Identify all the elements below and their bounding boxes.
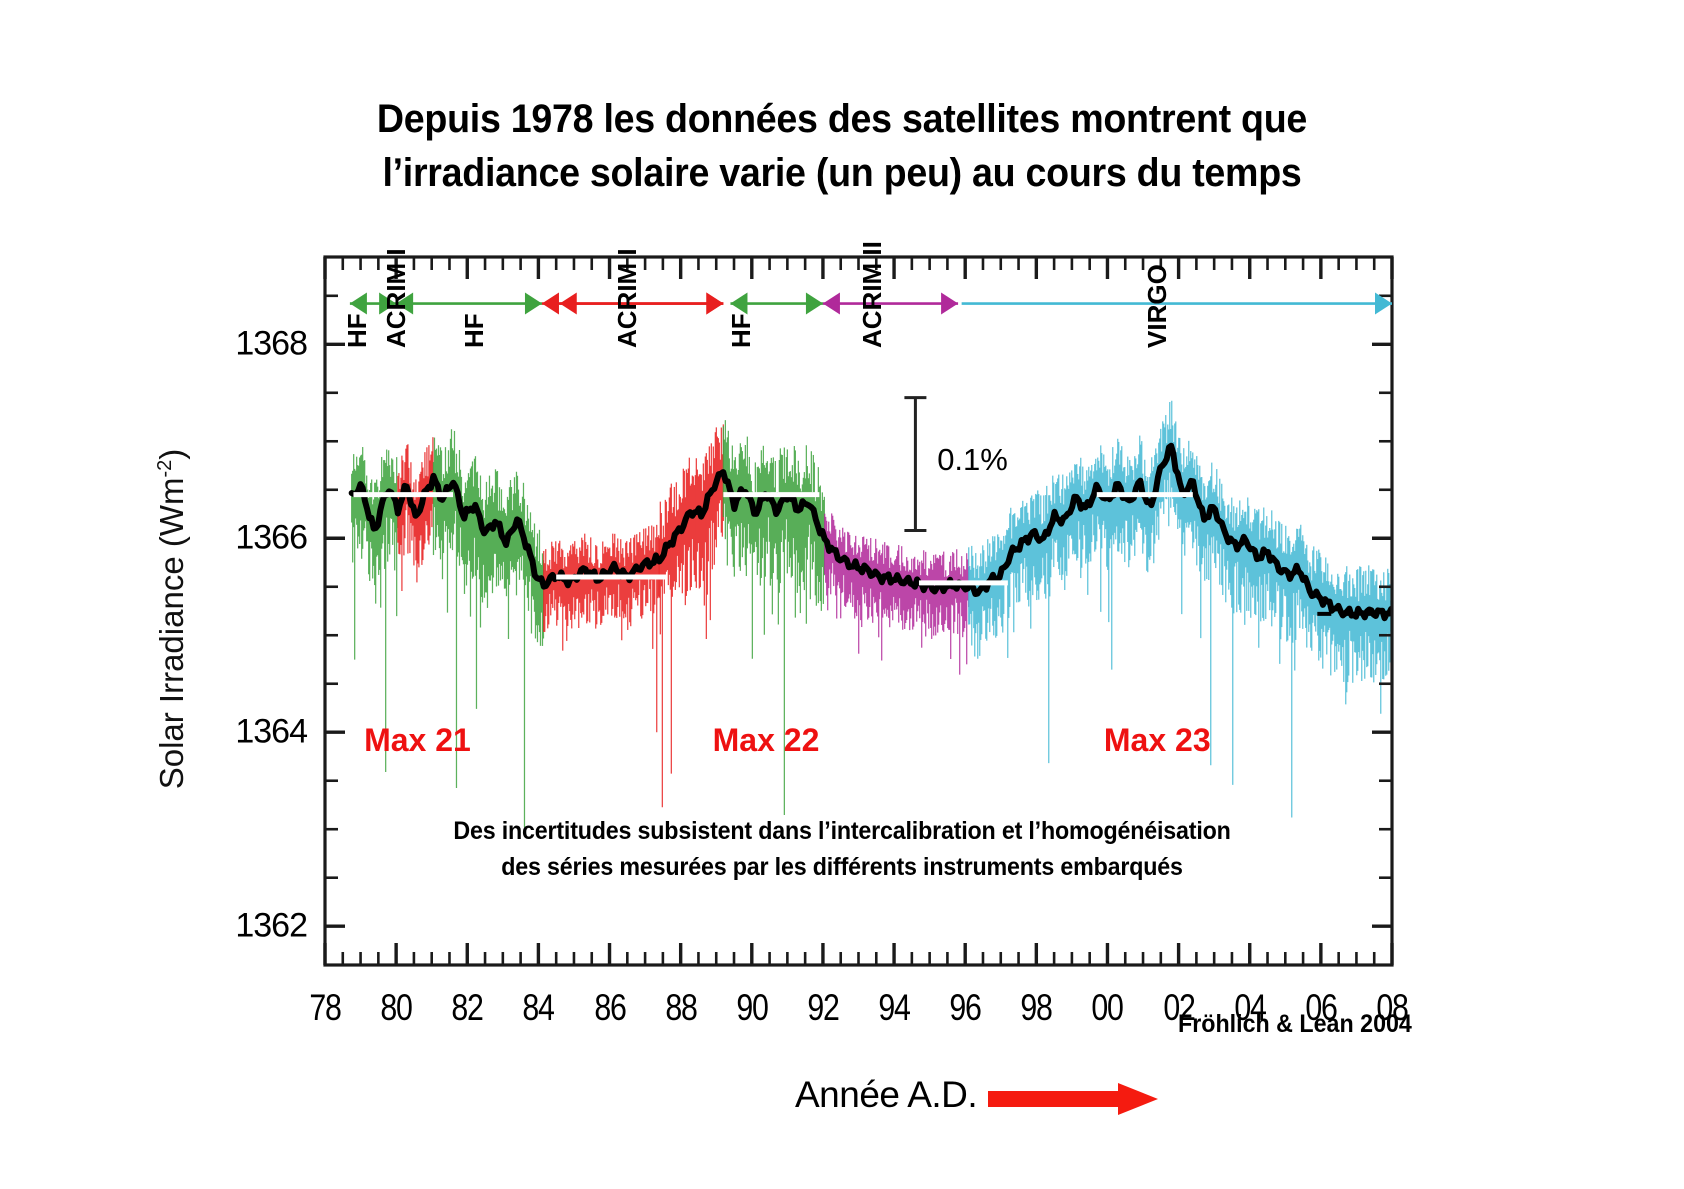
- x-axis-title: Année A.D.: [795, 1074, 977, 1116]
- span-arrow-head-right: [525, 293, 542, 315]
- y-axis-title: Solar Irradiance (Wm-2): [153, 339, 191, 899]
- cycle-max-label-max-23: Max 23: [1104, 722, 1211, 759]
- span-arrow-head-left: [730, 293, 747, 315]
- instrument-label-acrim-i-2: ACRIM I: [612, 248, 643, 348]
- series-noise-acrim2-1992-1996: [825, 513, 969, 674]
- instrument-label-hf-3: HF: [726, 313, 757, 348]
- source-credit: Fröhlich & Lean 2004: [1178, 1010, 1412, 1039]
- x-tick-label-80: 80: [363, 987, 429, 1029]
- x-tick-label-82: 82: [434, 987, 500, 1029]
- cycle-max-label-max-21: Max 21: [364, 722, 471, 759]
- x-tick-label-98: 98: [1004, 987, 1070, 1029]
- x-tick-label-84: 84: [506, 987, 572, 1029]
- instrument-label-hf: HF: [342, 313, 373, 348]
- y-axis-title-tail: ): [153, 449, 190, 460]
- span-arrow-head-left: [560, 293, 577, 315]
- span-arrow-head-left: [542, 293, 559, 315]
- y-tick-label-1364: 1364: [157, 713, 307, 752]
- x-tick-label-94: 94: [861, 987, 927, 1029]
- x-tick-label-86: 86: [577, 987, 643, 1029]
- span-arrow-head-right: [806, 293, 823, 315]
- instrument-label-acrim-i: ACRIM I: [381, 248, 412, 348]
- span-arrow-head-left: [350, 293, 367, 315]
- instrument-label-acrim-ii: ACRIM II: [857, 241, 888, 348]
- y-tick-label-1368: 1368: [157, 325, 307, 364]
- footnote-line-1: Des incertitudes subsistent dans l’inter…: [59, 817, 1625, 846]
- cycle-max-label-max-22: Max 22: [713, 722, 820, 759]
- x-tick-label-92: 92: [790, 987, 856, 1029]
- span-arrow-head-right: [706, 293, 723, 315]
- instrument-label-virgo: VIRGO: [1142, 264, 1173, 348]
- solar-irradiance-chart: Solar Irradiance (Wm-2) 1362136413661368…: [0, 0, 1684, 1189]
- span-arrow-head-right: [941, 293, 958, 315]
- span-arrow-head-left: [823, 293, 840, 315]
- x-tick-label-90: 90: [719, 987, 785, 1029]
- x-tick-label-78: 78: [292, 987, 358, 1029]
- x-tick-label-00: 00: [1075, 987, 1141, 1029]
- y-tick-label-1362: 1362: [157, 907, 307, 946]
- scale-bar: [904, 398, 926, 531]
- y-axis-title-exponent: -2: [154, 460, 176, 478]
- red-trend-arrow: [988, 1083, 1158, 1115]
- y-tick-label-1366: 1366: [157, 519, 307, 558]
- x-tick-label-96: 96: [932, 987, 998, 1029]
- scale-bar-label: 0.1%: [937, 442, 1008, 478]
- x-tick-label-88: 88: [648, 987, 714, 1029]
- instrument-label-hf-2: HF: [459, 313, 490, 348]
- footnote-line-2: des séries mesurées par les différents i…: [59, 853, 1625, 882]
- series-noise-acrim1-1984-1987: [544, 525, 659, 732]
